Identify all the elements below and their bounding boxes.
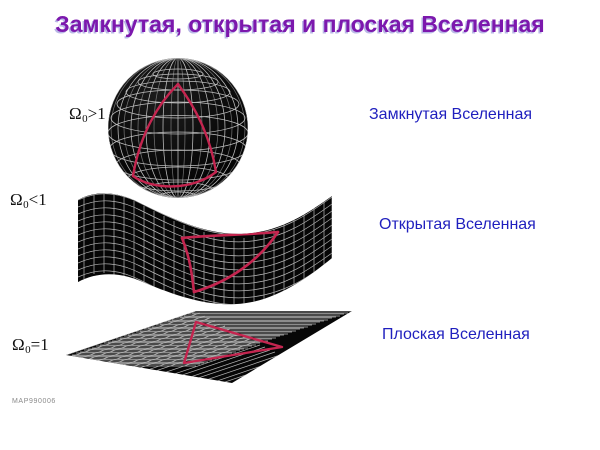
saddle-grid	[78, 191, 332, 320]
omega-relation-open: <1	[29, 190, 47, 209]
plane-triangle	[184, 322, 282, 363]
saddle-surface	[78, 193, 332, 304]
slide-canvas: Замкнутая, открытая и плоская Вселенная	[0, 0, 600, 450]
omega-label-flat: Ω0=1	[12, 335, 49, 356]
saddle-underside	[78, 193, 138, 282]
sphere-grid	[108, 58, 248, 200]
omega-symbol-flat: Ω	[12, 335, 25, 354]
plane-geometry	[40, 311, 352, 420]
plane-grid	[40, 311, 352, 420]
caption-open-universe: Открытая Вселенная	[379, 216, 536, 234]
plane-surface	[66, 311, 352, 383]
omega-relation-closed: >1	[88, 104, 106, 123]
sphere-geometry	[108, 58, 248, 200]
sphere-triangle	[133, 84, 216, 186]
omega-symbol-closed: Ω	[69, 104, 82, 123]
caption-flat-universe: Плоская Вселенная	[382, 326, 530, 344]
omega-symbol-open: Ω	[10, 190, 23, 209]
page-title: Замкнутая, открытая и плоская Вселенная	[0, 11, 600, 38]
omega-label-closed: Ω0>1	[69, 104, 106, 125]
omega-label-open: Ω0<1	[10, 190, 47, 211]
caption-closed-universe: Замкнутая Вселенная	[369, 106, 532, 124]
saddle-triangle	[182, 232, 278, 292]
saddle-geometry	[78, 191, 332, 320]
image-credit: MAP990006	[12, 398, 56, 405]
omega-relation-flat: =1	[31, 335, 49, 354]
